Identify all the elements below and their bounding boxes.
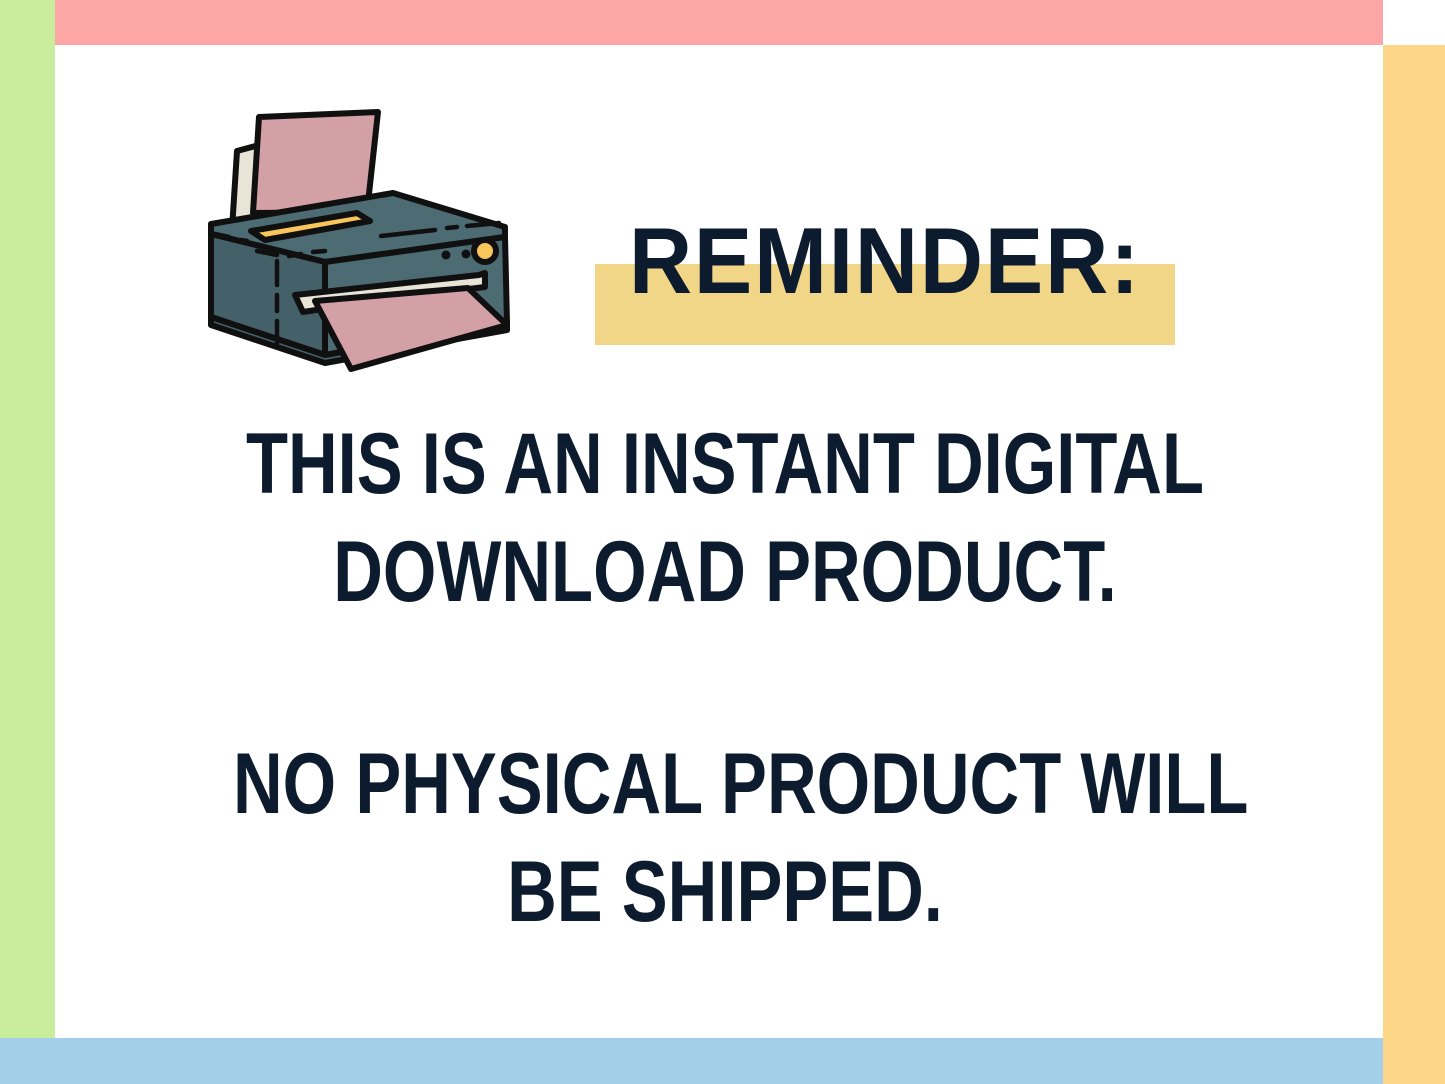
headline-block: REMINDER: xyxy=(595,264,1175,345)
printer-output-pink-sheet xyxy=(315,288,507,369)
printer-led-indicator xyxy=(474,240,496,262)
reminder-graphic-canvas: REMINDER: THIS IS AN INSTANT DIGITAL DOW… xyxy=(0,0,1445,1084)
page-title: REMINDER: xyxy=(615,214,1154,308)
printer-icon xyxy=(185,95,540,385)
pink-top-band xyxy=(55,0,1383,45)
orange-right-band xyxy=(1383,45,1445,1084)
body-spacer xyxy=(110,626,1340,730)
body-line-1: THIS IS AN INSTANT DIGITAL xyxy=(233,410,1217,518)
blue-bottom-band xyxy=(0,1038,1383,1084)
body-line-4: BE SHIPPED. xyxy=(233,838,1217,946)
body-line-2: DOWNLOAD PRODUCT. xyxy=(233,518,1217,626)
green-left-band xyxy=(0,0,55,1038)
body-line-3: NO PHYSICAL PRODUCT WILL xyxy=(233,730,1217,838)
body-copy-block: THIS IS AN INSTANT DIGITAL DOWNLOAD PROD… xyxy=(110,410,1340,946)
